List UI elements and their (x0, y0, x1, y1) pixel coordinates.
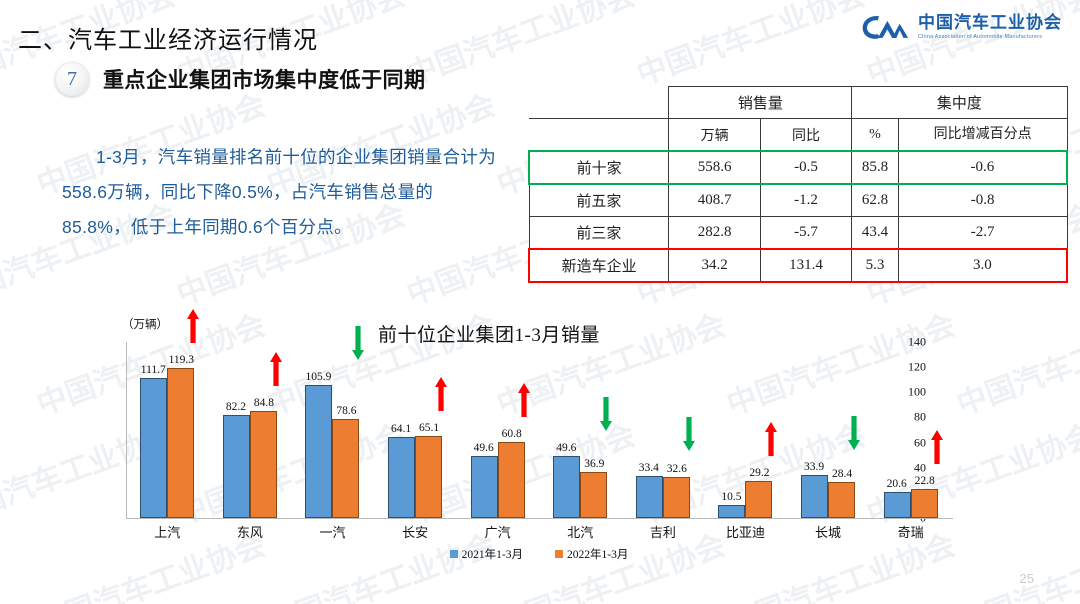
bar-groups: 111.7119.382.284.8105.978.664.165.149.66… (126, 342, 952, 518)
logo-chinese-name: 中国汽车工业协会 (918, 14, 1062, 33)
header-sales-volume: 销售量 (669, 87, 852, 119)
cell-wanliang: 408.7 (669, 184, 760, 217)
association-logo: 中国汽车工业协会 China Association of Automobile… (859, 10, 1062, 44)
cell-pp: -0.6 (898, 151, 1067, 184)
table-row: 前三家 282.8 -5.7 43.4 -2.7 (529, 217, 1067, 250)
cell-wanliang: 282.8 (669, 217, 760, 250)
row-label: 前十家 (529, 151, 669, 184)
bar-value-label: 111.7 (141, 364, 166, 376)
bar-2021 (553, 456, 580, 518)
bar-value-label: 36.9 (584, 458, 604, 470)
cell-pp: 3.0 (898, 249, 1067, 282)
bar-group: 49.636.9 (539, 342, 622, 518)
bar-group: 33.928.4 (787, 342, 870, 518)
arrow-up-icon (270, 352, 282, 391)
cell-percent: 62.8 (852, 184, 898, 217)
chart-legend: 2021年1-3月2022年1-3月 (126, 546, 952, 562)
cell-percent: 85.8 (852, 151, 898, 184)
cell-wanliang: 34.2 (669, 249, 760, 282)
bar-group: 49.660.8 (456, 342, 539, 518)
bar-value-label: 60.8 (502, 428, 522, 440)
bar-group: 33.432.6 (622, 342, 705, 518)
x-axis-label: 北汽 (539, 522, 622, 541)
legend-item: 2021年1-3月 (450, 546, 523, 562)
page-number: 25 (1020, 571, 1034, 586)
cell-pp: -2.7 (898, 217, 1067, 250)
summary-paragraph: 1-3月，汽车销量排名前十位的企业集团销量合计为558.6万辆，同比下降0.5%… (62, 140, 502, 245)
bar-2021 (801, 475, 828, 518)
x-axis-label: 东风 (209, 522, 292, 541)
bar-2022 (498, 442, 525, 518)
arrow-down-icon (352, 326, 364, 365)
bar-value-label: 33.9 (804, 461, 824, 473)
section-title: 二、汽车工业经济运行情况 (18, 20, 318, 55)
bar-2022 (332, 419, 359, 518)
bar-2022 (828, 482, 855, 518)
table-row: 前五家 408.7 -1.2 62.8 -0.8 (529, 184, 1067, 217)
bar-value-label: 78.6 (336, 405, 356, 417)
cell-tongbi: -1.2 (760, 184, 851, 217)
bar-group: 111.7119.3 (126, 342, 209, 518)
arrow-down-icon (848, 416, 860, 455)
bar-value-label: 84.8 (254, 397, 274, 409)
bar-value-label: 32.6 (667, 463, 687, 475)
x-axis-label: 长城 (787, 522, 870, 541)
logo-english-name: China Association of Automobile Manufact… (918, 34, 1062, 40)
bar-value-label: 28.4 (832, 468, 852, 480)
bar-2021 (636, 476, 663, 518)
row-label: 前五家 (529, 184, 669, 217)
bar-2021 (388, 437, 415, 518)
cell-wanliang: 558.6 (669, 151, 760, 184)
bar-2022 (663, 477, 690, 518)
table-body: 前十家 558.6 -0.5 85.8 -0.6 前五家 408.7 -1.2 … (529, 151, 1067, 282)
arrow-up-icon (435, 377, 447, 416)
x-axis-label: 奇瑞 (869, 522, 952, 541)
arrow-up-icon (931, 430, 943, 469)
legend-label: 2022年1-3月 (567, 546, 628, 562)
watermark-text: 中国汽车工业协会 (630, 0, 871, 94)
bar-2021 (884, 492, 911, 518)
bar-2021 (471, 456, 498, 518)
bar-value-label: 29.2 (749, 467, 769, 479)
table-sub-header-row: 万辆 同比 % 同比增减百分点 (529, 119, 1067, 152)
row-label: 前三家 (529, 217, 669, 250)
header-percent: % (852, 119, 898, 152)
bar-2021 (140, 378, 167, 518)
bar-value-label: 20.6 (887, 478, 907, 490)
bar-group: 10.529.2 (704, 342, 787, 518)
watermark-text: 中国汽车工业协会 (400, 0, 641, 94)
bar-value-label: 22.8 (915, 475, 935, 487)
sales-bar-chart: （万辆） 前十位企业集团1-3月销量 140120100806040200 11… (78, 308, 978, 558)
header-concentration: 集中度 (852, 87, 1067, 119)
legend-swatch (555, 550, 563, 558)
table-row: 前十家 558.6 -0.5 85.8 -0.6 (529, 151, 1067, 184)
bar-value-label: 64.1 (391, 423, 411, 435)
y-axis-unit-label: （万辆） (122, 316, 168, 332)
bar-value-label: 49.6 (556, 442, 576, 454)
bar-group: 105.978.6 (291, 342, 374, 518)
concentration-table-wrapper: 销售量 集中度 万辆 同比 % 同比增减百分点 前十家 558.6 -0.5 8… (528, 86, 1068, 283)
x-axis-label: 长安 (374, 522, 457, 541)
subsection-header: 7 重点企业集团市场集中度低于同期 (55, 62, 426, 96)
row-label: 新造车企业 (529, 249, 669, 282)
x-axis-label: 一汽 (291, 522, 374, 541)
x-axis-label: 上汽 (126, 522, 209, 541)
cell-tongbi: -5.7 (760, 217, 851, 250)
caam-logo-icon (859, 10, 911, 44)
section-number-badge: 7 (55, 62, 89, 96)
x-axis-labels: 上汽东风一汽长安广汽北汽吉利比亚迪长城奇瑞 (126, 522, 952, 541)
bar-value-label: 82.2 (226, 401, 246, 413)
header-pp-change: 同比增减百分点 (898, 119, 1067, 152)
arrow-down-icon (683, 417, 695, 456)
bar-2022 (580, 472, 607, 518)
concentration-table: 销售量 集中度 万辆 同比 % 同比增减百分点 前十家 558.6 -0.5 8… (528, 86, 1068, 283)
cell-percent: 43.4 (852, 217, 898, 250)
legend-label: 2021年1-3月 (462, 546, 523, 562)
x-axis-label: 广汽 (456, 522, 539, 541)
bar-2022 (415, 436, 442, 518)
bar-2022 (745, 481, 772, 518)
bar-group: 20.622.8 (869, 342, 952, 518)
arrow-down-icon (600, 397, 612, 436)
cell-pp: -0.8 (898, 184, 1067, 217)
cell-tongbi: -0.5 (760, 151, 851, 184)
bar-2022 (911, 489, 938, 518)
x-axis-label: 比亚迪 (704, 522, 787, 541)
table-row: 新造车企业 34.2 131.4 5.3 3.0 (529, 249, 1067, 282)
subsection-title: 重点企业集团市场集中度低于同期 (103, 64, 426, 94)
bar-2022 (250, 411, 277, 518)
x-axis-label: 吉利 (622, 522, 705, 541)
bar-value-label: 49.6 (474, 442, 494, 454)
bar-value-label: 33.4 (639, 462, 659, 474)
bar-value-label: 65.1 (419, 422, 439, 434)
cell-tongbi: 131.4 (760, 249, 851, 282)
bar-group: 82.284.8 (209, 342, 292, 518)
bar-2021 (223, 415, 250, 518)
bar-group: 64.165.1 (374, 342, 457, 518)
table-group-header-row: 销售量 集中度 (529, 87, 1067, 119)
legend-item: 2022年1-3月 (555, 546, 628, 562)
bar-2022 (167, 368, 194, 518)
bar-2021 (718, 505, 745, 518)
cell-percent: 5.3 (852, 249, 898, 282)
arrow-up-icon (765, 422, 777, 461)
arrow-up-icon (518, 383, 530, 422)
bar-value-label: 105.9 (306, 371, 332, 383)
arrow-up-icon (187, 309, 199, 348)
bar-2021 (305, 385, 332, 518)
header-wanliang: 万辆 (669, 119, 760, 152)
bar-value-label: 119.3 (169, 354, 194, 366)
legend-swatch (450, 550, 458, 558)
bar-value-label: 10.5 (721, 491, 741, 503)
header-tongbi: 同比 (760, 119, 851, 152)
